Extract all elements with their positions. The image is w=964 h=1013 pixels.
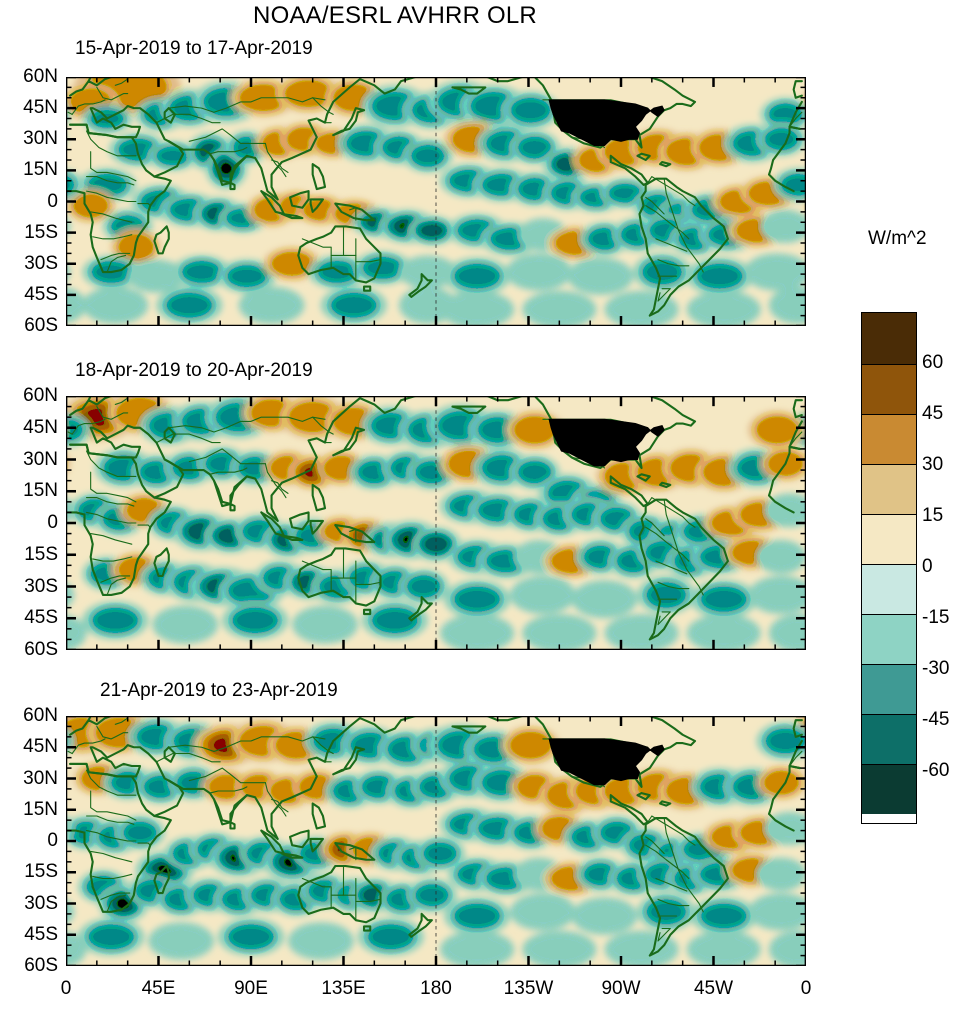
anomaly-contour bbox=[764, 727, 806, 756]
panel-3-y-axis-labels: 60N45N30N15N015S30S45S60S bbox=[0, 716, 58, 966]
colorbar[interactable] bbox=[861, 312, 917, 824]
x-tick-label: 0 bbox=[61, 978, 72, 1000]
colorbar-tick-label: -30 bbox=[922, 658, 949, 680]
colorbar-unit-label: W/m^2 bbox=[868, 228, 927, 250]
anomaly-contour bbox=[315, 259, 359, 284]
page-title: NOAA/ESRL AVHRR OLR bbox=[0, 2, 790, 30]
y-tick-label: 15N bbox=[23, 480, 58, 502]
y-tick-label: 60N bbox=[23, 705, 58, 727]
y-tick-label: 45S bbox=[24, 924, 58, 946]
colorbar-tick-labels: 604530150-15-30-45-60 bbox=[922, 312, 964, 822]
anomaly-contour bbox=[86, 923, 136, 952]
y-tick-label: 15S bbox=[24, 222, 58, 244]
x-tick-label: 0 bbox=[801, 978, 812, 1000]
map-canvas bbox=[66, 396, 806, 650]
anomaly-contour bbox=[366, 923, 416, 952]
colorbar-tick-label: 45 bbox=[922, 403, 943, 425]
anomaly-contour bbox=[152, 606, 218, 644]
x-tick-label: 135E bbox=[321, 978, 365, 1000]
y-tick-label: 45N bbox=[23, 417, 58, 439]
anomaly-contour bbox=[90, 606, 140, 635]
y-tick-label: 0 bbox=[47, 191, 58, 213]
colorbar-band bbox=[862, 664, 916, 714]
y-tick-label: 30N bbox=[23, 768, 58, 790]
colorbar-tick-label: -45 bbox=[922, 709, 949, 731]
anomaly-contour bbox=[148, 922, 214, 960]
anomaly-contour bbox=[230, 606, 280, 635]
anomaly-contour bbox=[510, 893, 576, 931]
anomaly-contour bbox=[763, 770, 800, 795]
x-tick-label: 45E bbox=[142, 978, 176, 1000]
panel-2-y-axis-labels: 60N45N30N15N015S30S45S60S bbox=[0, 396, 58, 650]
x-tick-label: 90W bbox=[601, 978, 640, 1000]
anomaly-contour bbox=[568, 258, 634, 295]
y-tick-label: 60S bbox=[24, 639, 58, 661]
olr-map-panel-1[interactable] bbox=[66, 77, 806, 326]
y-tick-label: 30S bbox=[24, 576, 58, 598]
colorbar-tick-label: 15 bbox=[922, 505, 943, 527]
x-tick-label: 90E bbox=[234, 978, 268, 1000]
anomaly-contour bbox=[239, 287, 305, 324]
anomaly-contour bbox=[509, 731, 553, 760]
colorbar-band bbox=[862, 614, 916, 664]
y-tick-label: 30S bbox=[24, 893, 58, 915]
y-tick-label: 45N bbox=[23, 736, 58, 758]
panel-3-title: 21-Apr-2019 to 23-Apr-2019 bbox=[100, 680, 338, 702]
map-canvas bbox=[66, 716, 806, 966]
y-tick-label: 0 bbox=[47, 512, 58, 534]
y-tick-label: 0 bbox=[47, 830, 58, 852]
y-tick-label: 45S bbox=[24, 607, 58, 629]
anomaly-contour bbox=[226, 923, 276, 952]
anomaly-contour bbox=[644, 898, 688, 927]
y-tick-label: 60S bbox=[24, 315, 58, 337]
anomaly-contour bbox=[221, 162, 233, 174]
y-tick-label: 30N bbox=[23, 128, 58, 150]
colorbar-tick-label: 0 bbox=[922, 556, 933, 578]
anomaly-contour bbox=[640, 258, 684, 286]
x-axis-labels: 045E90E135E180135W90W45W0 bbox=[0, 978, 830, 1006]
anomaly-contour bbox=[644, 580, 688, 609]
colorbar-band bbox=[862, 514, 916, 564]
anomaly-contour bbox=[82, 287, 148, 324]
anomaly-contour bbox=[757, 858, 806, 891]
anomaly-contour bbox=[572, 580, 638, 618]
colorbar-tick-label: 30 bbox=[922, 454, 943, 476]
colorbar-band bbox=[862, 564, 916, 614]
y-tick-label: 15S bbox=[24, 861, 58, 883]
anomaly-contour bbox=[572, 897, 638, 935]
x-tick-label: 45W bbox=[694, 978, 733, 1000]
y-tick-label: 15N bbox=[23, 159, 58, 181]
anomaly-contour bbox=[452, 902, 502, 931]
colorbar-band bbox=[862, 414, 916, 464]
y-tick-label: 60N bbox=[23, 66, 58, 88]
anomaly-contour bbox=[510, 576, 576, 614]
anomaly-contour bbox=[452, 585, 502, 614]
anomaly-contour bbox=[419, 223, 445, 238]
y-tick-label: 15S bbox=[24, 544, 58, 566]
anomaly-contour bbox=[361, 255, 405, 280]
y-tick-label: 60S bbox=[24, 955, 58, 977]
panel-2-title: 18-Apr-2019 to 20-Apr-2019 bbox=[75, 360, 313, 382]
anomaly-contour bbox=[413, 883, 450, 908]
anomaly-contour bbox=[405, 574, 442, 600]
anomaly-contour bbox=[421, 841, 458, 866]
colorbar-tick-label: -15 bbox=[922, 607, 949, 629]
olr-map-panel-2[interactable] bbox=[66, 396, 806, 650]
panel-1-title: 15-Apr-2019 to 17-Apr-2019 bbox=[75, 38, 313, 60]
anomaly-contour bbox=[288, 922, 354, 960]
colorbar-band bbox=[862, 764, 916, 814]
anomaly-contour bbox=[699, 585, 749, 614]
colorbar-band bbox=[862, 313, 916, 364]
anomaly-contour bbox=[329, 291, 379, 319]
anomaly-contour bbox=[757, 540, 806, 574]
y-tick-label: 30S bbox=[24, 253, 58, 275]
colorbar-band bbox=[862, 364, 916, 414]
anomaly-contour bbox=[423, 535, 449, 553]
map-canvas bbox=[66, 77, 806, 326]
x-tick-label: 135W bbox=[504, 978, 554, 1000]
y-tick-label: 45N bbox=[23, 97, 58, 119]
x-tick-label: 180 bbox=[420, 978, 452, 1000]
anomaly-contour bbox=[409, 143, 446, 168]
olr-map-panel-3[interactable] bbox=[66, 716, 806, 966]
anomaly-contour bbox=[164, 291, 214, 319]
anomaly-contour bbox=[225, 264, 269, 289]
y-tick-label: 30N bbox=[23, 449, 58, 471]
anomaly-contour bbox=[180, 259, 224, 284]
colorbar-band bbox=[862, 714, 916, 764]
y-tick-label: 60N bbox=[23, 385, 58, 407]
anomaly-contour bbox=[292, 606, 358, 644]
anomaly-contour bbox=[506, 253, 572, 290]
colorbar-tick-label: 60 bbox=[922, 352, 943, 374]
anomaly-contour bbox=[699, 902, 749, 931]
y-tick-label: 15N bbox=[23, 799, 58, 821]
colorbar-band bbox=[862, 464, 916, 514]
colorbar-tick-label: -60 bbox=[922, 760, 949, 782]
y-tick-label: 45S bbox=[24, 284, 58, 306]
anomaly-contour bbox=[154, 145, 191, 167]
panel-1-y-axis-labels: 60N45N30N15N015S30S45S60S bbox=[0, 77, 58, 326]
anomaly-contour bbox=[452, 262, 502, 290]
